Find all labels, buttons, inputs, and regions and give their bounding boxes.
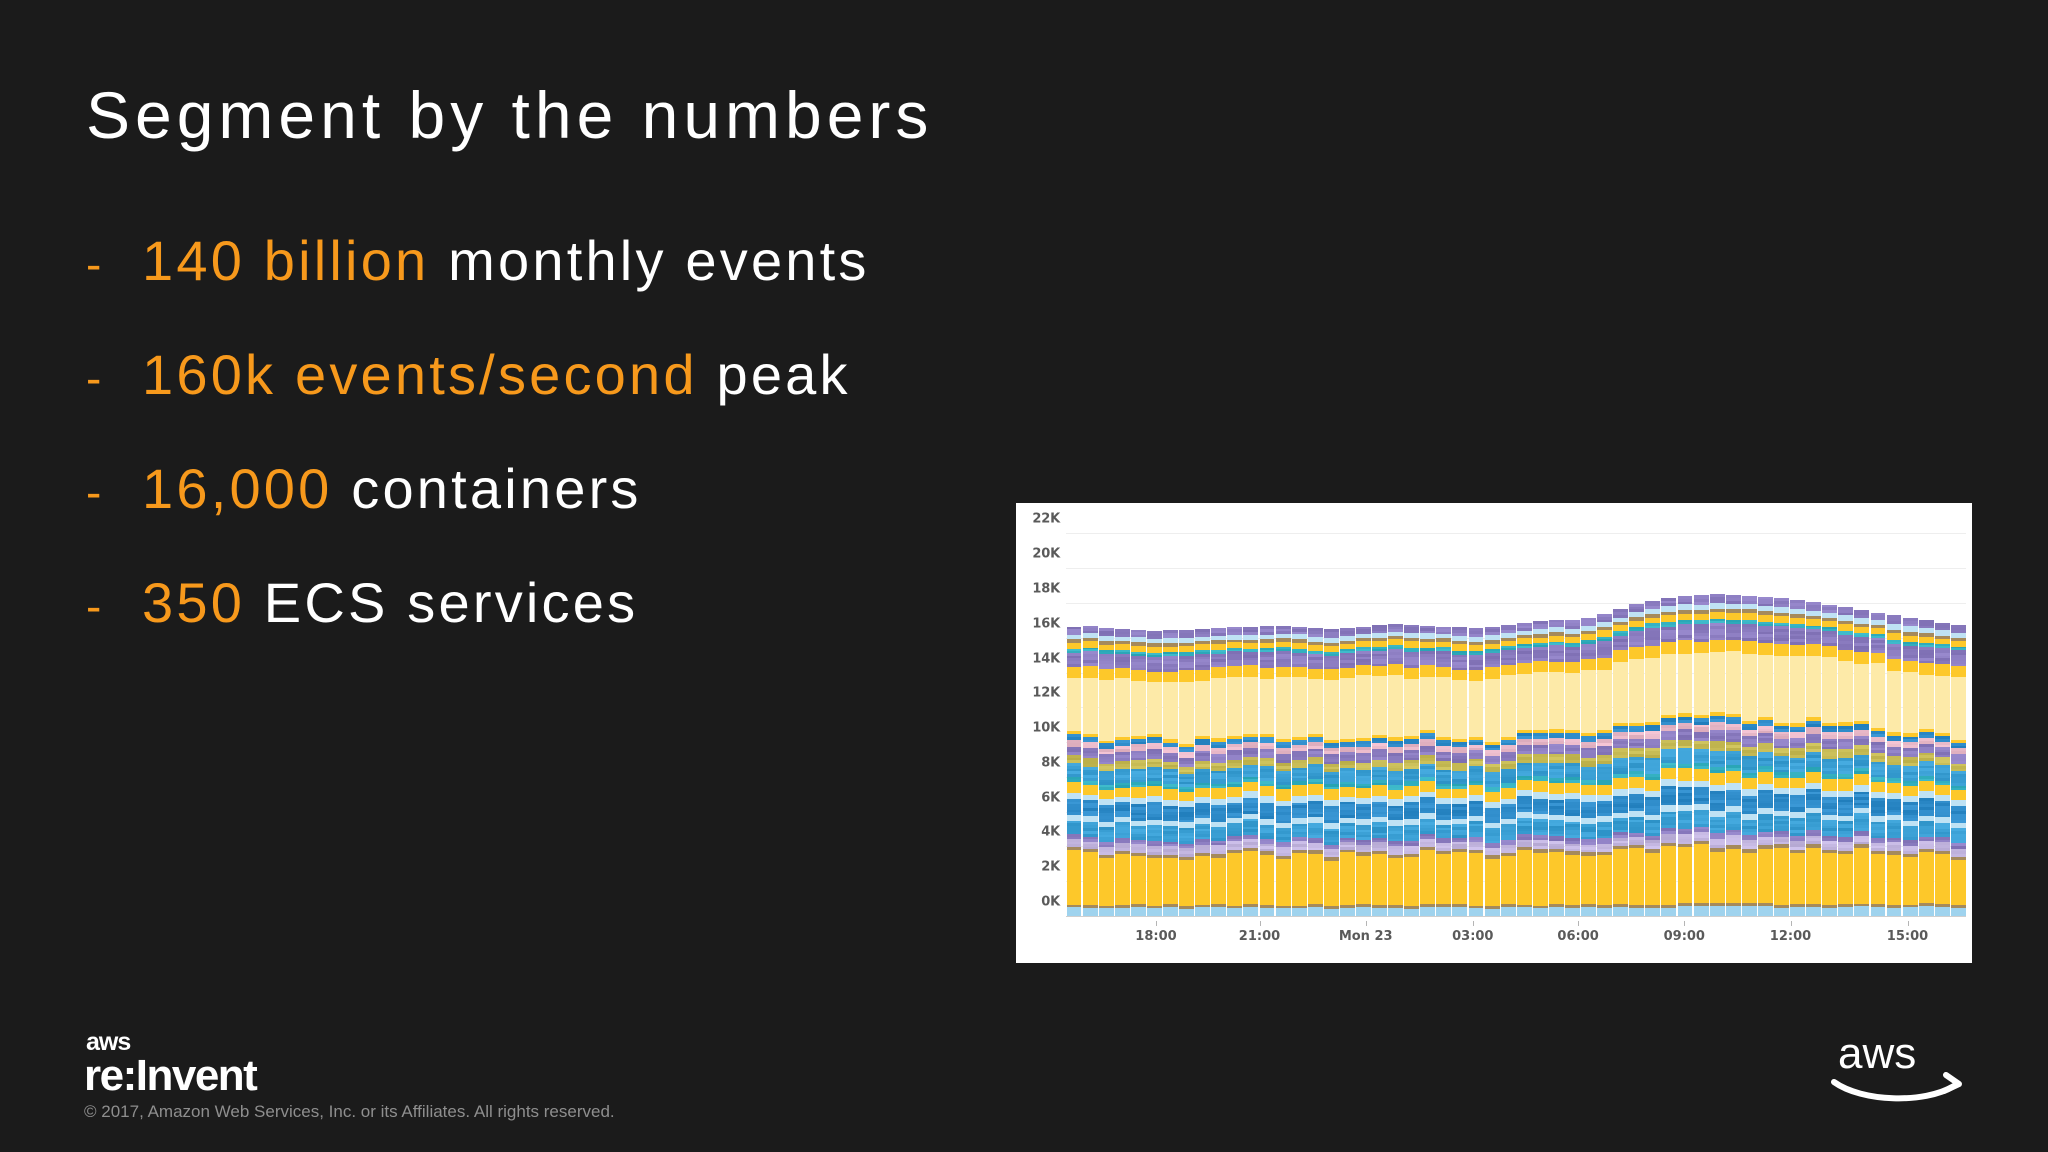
- chart-bar-segment: [1903, 661, 1918, 672]
- chart-bar-segment: [1308, 679, 1323, 734]
- chart-bar-segment: [1887, 783, 1902, 794]
- bullet-dash: -: [86, 237, 142, 291]
- chart-bar: [1613, 517, 1628, 917]
- chart-bar: [1533, 517, 1548, 917]
- chart-bar: [1404, 517, 1419, 917]
- reinvent-word-text: re:Invent: [84, 1054, 256, 1098]
- chart-bar-segment: [1903, 672, 1918, 733]
- bullet-highlight: 160k events/second: [142, 343, 698, 406]
- chart-bar-segment: [1452, 670, 1467, 680]
- chart-bar-segment: [1726, 651, 1741, 714]
- chart-bar-segment: [1147, 786, 1162, 797]
- chart-bar-stack: [1694, 595, 1709, 917]
- chart-bar-segment: [1758, 849, 1773, 904]
- chart-bar-segment: [1710, 852, 1725, 904]
- chart-bar-segment: [1774, 644, 1789, 656]
- chart-bar-segment: [1131, 670, 1146, 681]
- chart-bar-segment: [1919, 663, 1934, 675]
- chart-bar-stack: [1308, 628, 1323, 917]
- aws-smile-icon: aws: [1828, 1028, 1976, 1102]
- chart-bar-stack: [1935, 623, 1950, 917]
- chart-bar-segment: [1388, 675, 1403, 737]
- chart-bar-segment: [1854, 664, 1869, 720]
- chart-bar-segment: [1758, 643, 1773, 655]
- chart-bar-segment: [1469, 681, 1484, 737]
- y-axis-tick-label: 0K: [1041, 895, 1060, 910]
- chart-bar-segment: [1678, 768, 1693, 780]
- chart-bars: [1066, 517, 1966, 917]
- chart-bar-segment: [1565, 793, 1580, 800]
- chart-bar: [1388, 517, 1403, 917]
- chart-bar-stack: [1533, 621, 1548, 917]
- chart-bar: [1131, 517, 1146, 917]
- chart-bar-segment: [1211, 678, 1226, 738]
- chart-bar-stack: [1115, 629, 1130, 917]
- chart-bar-segment: [1372, 666, 1387, 676]
- chart-bar-segment: [1227, 853, 1242, 906]
- chart-bar-segment: [1838, 661, 1853, 722]
- chart-bar-segment: [1726, 771, 1741, 784]
- chart-bar-segment: [1742, 789, 1757, 796]
- chart-bar: [1822, 517, 1837, 917]
- chart-bar-stack: [1710, 594, 1725, 917]
- chart-bar-segment: [1501, 788, 1516, 799]
- chart-bar-segment: [1131, 856, 1146, 904]
- chart-bar-segment: [1838, 650, 1853, 661]
- chart-bar-segment: [1871, 854, 1886, 904]
- chart-bar-segment: [1629, 848, 1644, 905]
- chart-bar-segment: [1099, 680, 1114, 741]
- chart-bar-stack: [1758, 597, 1773, 917]
- chart-bar-stack: [1211, 628, 1226, 917]
- chart-bar-segment: [1115, 788, 1130, 797]
- chart-bar-segment: [1131, 787, 1146, 797]
- chart-bar-stack: [1774, 598, 1789, 917]
- chart-bar-segment: [1581, 785, 1596, 795]
- chart-bar-segment: [1645, 853, 1660, 905]
- chart-bar: [1694, 517, 1709, 917]
- bullet-dash: -: [86, 351, 142, 405]
- chart-bar-segment: [1581, 659, 1596, 670]
- chart-bar: [1951, 517, 1966, 917]
- chart-bar-segment: [1211, 858, 1226, 904]
- chart-bar-segment: [1790, 656, 1805, 723]
- chart-bar-stack: [1661, 598, 1676, 917]
- chart-bar-stack: [1388, 624, 1403, 917]
- chart-bar: [1838, 517, 1853, 917]
- chart-bar-segment: [1243, 665, 1258, 677]
- chart-bar: [1372, 517, 1387, 917]
- chart-bar-segment: [1919, 675, 1934, 729]
- chart-y-axis: 0K2K4K6K8K10K12K14K16K18K20K22K: [1016, 517, 1064, 917]
- chart-bar: [1356, 517, 1371, 917]
- chart-bar-segment: [1163, 858, 1178, 904]
- chart-bar-segment: [1597, 670, 1612, 730]
- svg-text:aws: aws: [1838, 1029, 1916, 1078]
- chart-bar-segment: [1276, 677, 1291, 740]
- chart-bar-segment: [1613, 650, 1628, 662]
- chart-bar-segment: [1131, 681, 1146, 736]
- chart-bar-segment: [1919, 852, 1934, 903]
- chart-bar-segment: [1308, 669, 1323, 679]
- x-axis-tick-label: 21:00: [1239, 929, 1280, 944]
- chart-bar-segment: [1469, 785, 1484, 795]
- chart-bar: [1436, 517, 1451, 917]
- chart-bar-segment: [1710, 612, 1725, 619]
- x-axis-tick-mark: [1908, 921, 1909, 926]
- chart-bar: [1260, 517, 1275, 917]
- chart-bar-segment: [1774, 778, 1789, 788]
- chart-bar-segment: [1436, 789, 1451, 798]
- chart-bar-segment: [1871, 653, 1886, 663]
- chart-bar-segment: [1597, 658, 1612, 670]
- chart-bar-segment: [1227, 666, 1242, 677]
- chart-bar-stack: [1806, 602, 1821, 917]
- chart-bar: [1099, 517, 1114, 917]
- chart-bar-segment: [1581, 670, 1596, 733]
- chart-bar: [1452, 517, 1467, 917]
- chart-bar-segment: [1067, 850, 1082, 905]
- chart-bar-segment: [1179, 670, 1194, 681]
- chart-bar-segment: [1533, 672, 1548, 730]
- chart-bar-segment: [1822, 791, 1837, 798]
- chart-bar-segment: [1742, 613, 1757, 620]
- bullet-dash: -: [86, 579, 142, 633]
- chart-bar-segment: [1501, 665, 1516, 674]
- chart-bar-segment: [1935, 854, 1950, 904]
- chart-bar-segment: [1324, 680, 1339, 740]
- chart-bar-segment: [1292, 853, 1307, 906]
- chart-bar: [1565, 517, 1580, 917]
- chart-bar: [1211, 517, 1226, 917]
- chart-bar-segment: [1211, 667, 1226, 678]
- chart-bar-segment: [1067, 678, 1082, 730]
- chart-bar-segment: [1613, 789, 1628, 796]
- chart-bar-segment: [1420, 850, 1435, 904]
- chart-bar-stack: [1919, 620, 1934, 917]
- chart-bar-segment: [1806, 848, 1821, 904]
- chart-bar: [1420, 517, 1435, 917]
- chart-bar-segment: [1420, 665, 1435, 676]
- chart-bar: [1871, 517, 1886, 917]
- chart-bar-segment: [1710, 640, 1725, 652]
- chart-bar: [1115, 517, 1130, 917]
- chart-bar-segment: [1452, 680, 1467, 739]
- chart-bar-segment: [1083, 666, 1098, 678]
- chart-bar-segment: [1903, 786, 1918, 796]
- slide: Segment by the numbers - 140 billion mon…: [0, 0, 2048, 1152]
- chart-bar-segment: [1597, 855, 1612, 905]
- chart-bar-segment: [1694, 642, 1709, 653]
- chart-bar-segment: [1678, 654, 1693, 714]
- chart-bar-segment: [1292, 667, 1307, 677]
- chart-bar-segment: [1951, 790, 1966, 800]
- chart-bar-segment: [1871, 782, 1886, 792]
- chart-bar-segment: [1195, 670, 1210, 681]
- chart-bar: [1661, 517, 1676, 917]
- chart-bar: [1549, 517, 1564, 917]
- y-axis-tick-label: 8K: [1041, 755, 1060, 770]
- chart-bar: [1340, 517, 1355, 917]
- chart-bar-segment: [1645, 780, 1660, 791]
- metrics-chart-panel: 0K2K4K6K8K10K12K14K16K18K20K22K 18:0021:…: [1016, 503, 1972, 963]
- bullet-rest: containers: [332, 457, 641, 520]
- chart-bar-segment: [1115, 678, 1130, 737]
- chart-bar-segment: [1935, 664, 1950, 676]
- bullet-rest: monthly events: [429, 229, 869, 292]
- chart-bar-segment: [1388, 790, 1403, 799]
- chart-bar-segment: [1404, 786, 1419, 795]
- chart-bar: [1243, 517, 1258, 917]
- chart-bar-segment: [1067, 782, 1082, 793]
- x-axis-tick-mark: [1473, 921, 1474, 926]
- chart-bar: [1083, 517, 1098, 917]
- chart-bar-segment: [1887, 659, 1902, 671]
- y-axis-tick-label: 20K: [1032, 547, 1060, 562]
- chart-bar-segment: [1726, 640, 1741, 652]
- x-axis-tick-mark: [1366, 921, 1367, 926]
- list-item: - 350 ECS services: [86, 570, 1086, 684]
- chart-bar: [1629, 517, 1644, 917]
- bullet-highlight: 350: [142, 571, 245, 634]
- chart-bar-segment: [1645, 646, 1660, 658]
- chart-bar-segment: [1452, 789, 1467, 799]
- chart-bar: [1726, 517, 1741, 917]
- x-axis-tick-mark: [1260, 921, 1261, 926]
- list-item: - 16,000 containers: [86, 456, 1086, 570]
- chart-bar-segment: [1260, 855, 1275, 905]
- chart-bar-stack: [1838, 607, 1853, 917]
- chart-bar-stack: [1195, 629, 1210, 917]
- chart-bar: [1935, 517, 1950, 917]
- chart-bar: [1919, 517, 1934, 917]
- chart-axis-line: [1066, 916, 1966, 917]
- chart-bar-segment: [1935, 676, 1950, 733]
- chart-bar-segment: [1163, 789, 1178, 800]
- chart-bar-stack: [1404, 625, 1419, 917]
- chart-bar-stack: [1163, 630, 1178, 917]
- x-axis-tick-label: 15:00: [1887, 929, 1928, 944]
- chart-bar-stack: [1581, 618, 1596, 917]
- chart-bar-segment: [1645, 791, 1660, 798]
- chart-bar-stack: [1485, 627, 1500, 917]
- chart-bar: [1067, 517, 1082, 917]
- chart-bar: [1710, 517, 1725, 917]
- chart-bar-segment: [1549, 662, 1564, 672]
- chart-bar-stack: [1854, 610, 1869, 917]
- chart-bar-segment: [1613, 849, 1628, 904]
- chart-bar-segment: [1083, 785, 1098, 794]
- y-axis-tick-label: 22K: [1032, 512, 1060, 527]
- chart-bar-segment: [1340, 852, 1355, 905]
- chart-bar-segment: [1661, 654, 1676, 715]
- chart-bar-segment: [1613, 778, 1628, 789]
- chart-bar-segment: [1260, 668, 1275, 679]
- chart-bar-stack: [1436, 627, 1451, 917]
- chart-bar: [1758, 517, 1773, 917]
- list-item: - 160k events/second peak: [86, 342, 1086, 456]
- chart-bar: [1581, 517, 1596, 917]
- chart-bar-stack: [1276, 626, 1291, 917]
- chart-bar-stack: [1871, 613, 1886, 917]
- x-axis-tick-label: 06:00: [1557, 929, 1598, 944]
- chart-bar-segment: [1372, 785, 1387, 796]
- chart-bar-segment: [1485, 679, 1500, 743]
- chart-bar: [1195, 517, 1210, 917]
- chart-bar-segment: [1710, 773, 1725, 785]
- chart-bar: [1227, 517, 1242, 917]
- chart-bar: [1485, 517, 1500, 917]
- chart-bar-segment: [1854, 652, 1869, 665]
- bullet-highlight: 140 billion: [142, 229, 429, 292]
- chart-bar-stack: [1726, 595, 1741, 917]
- chart-bar-stack: [1372, 625, 1387, 917]
- chart-bar-segment: [1806, 644, 1821, 656]
- chart-bar-segment: [1115, 668, 1130, 678]
- chart-bar-stack: [1243, 627, 1258, 917]
- chart-bar: [1179, 517, 1194, 917]
- chart-bar-segment: [1742, 641, 1757, 654]
- chart-bar-segment: [1645, 658, 1660, 722]
- x-axis-tick-label: 12:00: [1770, 929, 1811, 944]
- chart-bar-segment: [1694, 653, 1709, 715]
- chart-bar-segment: [1790, 853, 1805, 904]
- chart-bar-stack: [1951, 625, 1966, 917]
- chart-bar-segment: [1356, 665, 1371, 675]
- chart-bar-segment: [1243, 677, 1258, 734]
- chart-bar: [1774, 517, 1789, 917]
- chart-bar-segment: [1163, 672, 1178, 682]
- chart-bar-segment: [1356, 788, 1371, 798]
- chart-bar-segment: [1083, 678, 1098, 734]
- chart-bar-segment: [1806, 772, 1821, 783]
- chart-bar-segment: [1661, 846, 1676, 904]
- chart-bar-segment: [1661, 615, 1676, 622]
- copyright-text: © 2017, Amazon Web Services, Inc. or its…: [84, 1102, 615, 1122]
- chart-bar-segment: [1179, 792, 1194, 801]
- chart-bar: [1501, 517, 1516, 917]
- chart-bar-stack: [1067, 627, 1082, 917]
- chart-bar-segment: [1067, 793, 1082, 800]
- chart-bar-segment: [1613, 662, 1628, 723]
- chart-plot-area: [1066, 517, 1966, 917]
- chart-bar: [1324, 517, 1339, 917]
- chart-bar-stack: [1678, 596, 1693, 917]
- bullet-rest: ECS services: [245, 571, 638, 634]
- chart-bar-segment: [1790, 778, 1805, 789]
- chart-bar-stack: [1501, 625, 1516, 917]
- chart-bar: [1742, 517, 1757, 917]
- chart-bar-segment: [1388, 664, 1403, 675]
- chart-bar: [1163, 517, 1178, 917]
- x-axis-tick-label: Mon 23: [1339, 929, 1393, 944]
- chart-bar-stack: [1260, 626, 1275, 917]
- chart-bar-segment: [1356, 675, 1371, 738]
- chart-bar-segment: [1404, 668, 1419, 679]
- chart-bar-stack: [1549, 620, 1564, 917]
- chart-bar-stack: [1565, 620, 1580, 917]
- chart-bar-segment: [1372, 676, 1387, 735]
- chart-bar-segment: [1854, 774, 1869, 785]
- chart-bar-segment: [1935, 785, 1950, 795]
- chart-bar-segment: [1790, 645, 1805, 657]
- chart-bar-stack: [1903, 618, 1918, 917]
- bullet-list: - 140 billion monthly events - 160k even…: [86, 228, 1086, 684]
- x-axis-tick-label: 03:00: [1452, 929, 1493, 944]
- chart-bar-stack: [1517, 623, 1532, 917]
- chart-bar-segment: [1147, 682, 1162, 734]
- chart-bar: [1854, 517, 1869, 917]
- chart-bar-segment: [1726, 849, 1741, 903]
- chart-bar-segment: [1661, 768, 1676, 780]
- chart-bar-stack: [1131, 630, 1146, 917]
- chart-bar-segment: [1115, 854, 1130, 905]
- chart-bar-segment: [1227, 787, 1242, 797]
- x-axis-tick-mark: [1684, 921, 1685, 926]
- chart-bar-stack: [1887, 615, 1902, 917]
- chart-bar: [1308, 517, 1323, 917]
- chart-bar-stack: [1099, 628, 1114, 917]
- chart-bar-segment: [1404, 857, 1419, 905]
- y-axis-tick-label: 14K: [1032, 651, 1060, 666]
- bullet-highlight: 16,000: [142, 457, 332, 520]
- y-axis-tick-label: 10K: [1032, 721, 1060, 736]
- chart-bar-segment: [1742, 778, 1757, 790]
- chart-bar-segment: [1517, 850, 1532, 904]
- chart-bar-segment: [1099, 669, 1114, 680]
- x-axis-tick-label: 18:00: [1135, 929, 1176, 944]
- chart-bar-stack: [1597, 614, 1612, 917]
- chart-bar-segment: [1951, 666, 1966, 676]
- bullet-dash: -: [86, 465, 142, 519]
- chart-bar-segment: [1742, 853, 1757, 903]
- chart-bar-segment: [1099, 858, 1114, 905]
- chart-bar-segment: [1179, 682, 1194, 744]
- chart-bar-stack: [1452, 627, 1467, 917]
- chart-bar-segment: [1597, 630, 1612, 637]
- chart-bar-stack: [1227, 627, 1242, 917]
- chart-bar-segment: [1243, 782, 1258, 792]
- chart-bar-segment: [1678, 640, 1693, 653]
- chart-bar-segment: [1324, 861, 1339, 907]
- chart-bar-segment: [1083, 852, 1098, 905]
- chart-bar-segment: [1067, 643, 1082, 650]
- chart-bar-segment: [1308, 854, 1323, 905]
- chart-bar-segment: [1774, 656, 1789, 723]
- chart-bar-segment: [1838, 779, 1853, 791]
- chart-bar-segment: [1517, 674, 1532, 730]
- chart-bar: [1645, 517, 1660, 917]
- chart-bar: [1903, 517, 1918, 917]
- chart-bar-segment: [1661, 642, 1676, 655]
- chart-bar-segment: [1758, 772, 1773, 784]
- chart-bar-segment: [1758, 615, 1773, 622]
- chart-bar-segment: [1227, 677, 1242, 736]
- chart-bar-segment: [1501, 856, 1516, 904]
- chart-bar-segment: [1243, 851, 1258, 904]
- chart-bar: [1790, 517, 1805, 917]
- chart-bar-segment: [1629, 647, 1644, 659]
- chart-bar-segment: [1436, 854, 1451, 905]
- chart-bar-segment: [1340, 668, 1355, 678]
- y-axis-tick-label: 6K: [1041, 790, 1060, 805]
- y-axis-tick-label: 12K: [1032, 686, 1060, 701]
- chart-bar: [1276, 517, 1291, 917]
- chart-bar-segment: [1517, 780, 1532, 790]
- chart-bar-segment: [1951, 860, 1966, 905]
- chart-bar-stack: [1083, 626, 1098, 917]
- chart-bar-segment: [1694, 844, 1709, 902]
